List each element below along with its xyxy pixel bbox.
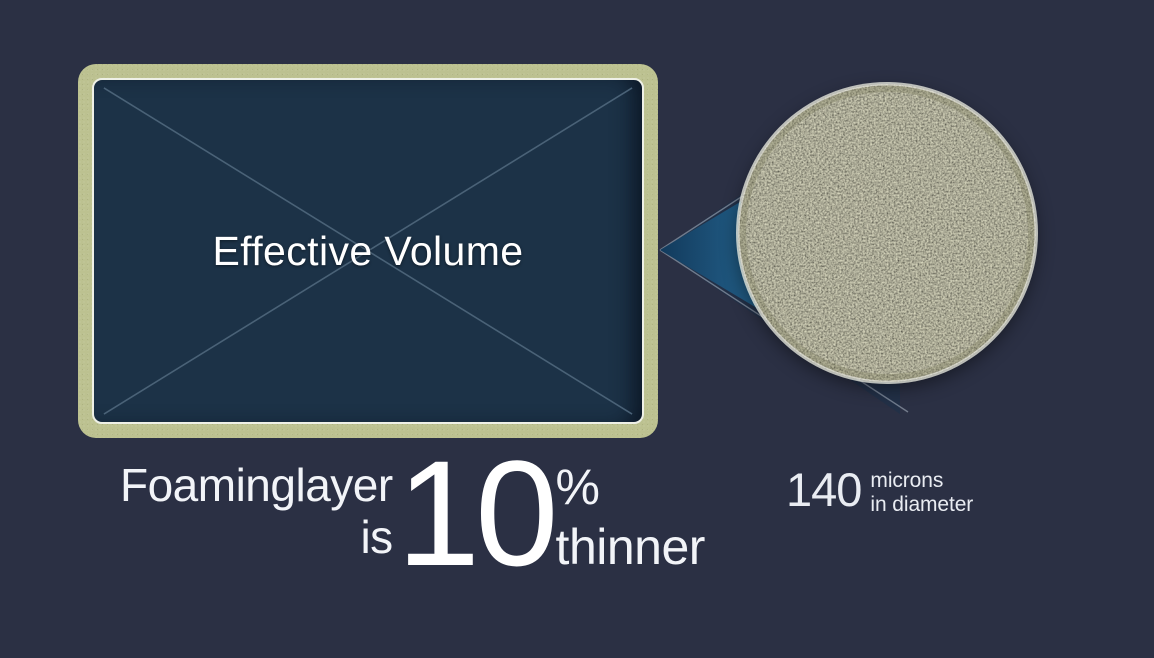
headline-right-words: % thinner	[556, 456, 705, 572]
headline-word-thinner: thinner	[556, 522, 705, 572]
caption-number-140: 140	[786, 466, 861, 513]
headline-number-10: 10	[397, 452, 554, 575]
foam-texture-circle	[738, 84, 1036, 382]
headline-percent-symbol: %	[556, 462, 600, 512]
headline-word-is: is	[360, 515, 392, 560]
infographic-canvas: Effective Volume	[0, 0, 1154, 658]
effective-volume-label: Effective Volume	[94, 80, 642, 422]
effective-volume-box: Effective Volume	[78, 64, 658, 438]
caption-line-in-diameter: in diameter	[870, 493, 973, 517]
foam-caption-block: 140 microns in diameter	[786, 466, 973, 516]
headline-word-foaminglayer: Foaminglayer	[120, 463, 393, 508]
headline-block: Foaminglayer is 10 % thinner	[120, 452, 705, 575]
caption-text-lines: microns in diameter	[870, 466, 973, 516]
caption-line-microns: microns	[870, 469, 973, 493]
foam-texture-icon	[738, 84, 1036, 382]
headline-left-words: Foaminglayer is	[120, 463, 393, 563]
effective-volume-inner-panel: Effective Volume	[92, 78, 644, 424]
